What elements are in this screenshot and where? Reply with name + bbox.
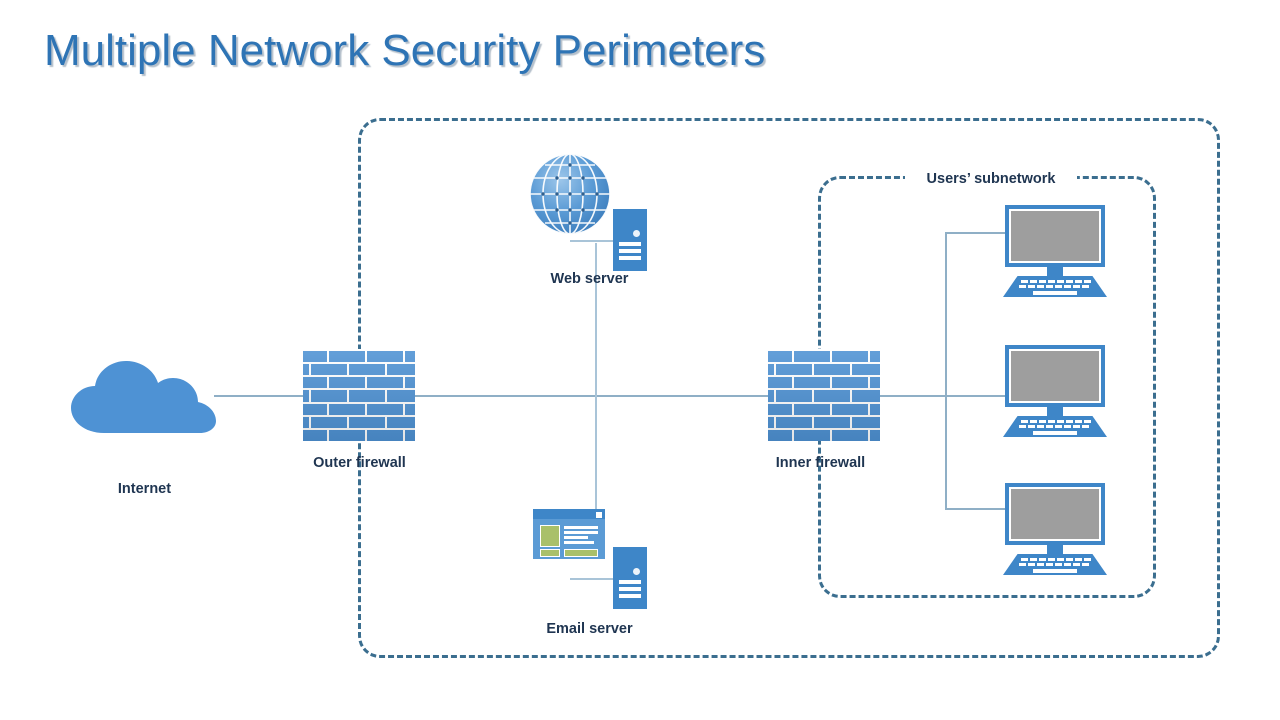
workstation-1 [1003, 205, 1107, 297]
spacebar [1033, 569, 1077, 573]
brick-row [303, 428, 415, 441]
cloud-icon [66, 355, 221, 440]
brick-row [768, 362, 880, 375]
workstation-3 [1003, 483, 1107, 575]
email-server-tower-icon [613, 547, 647, 609]
keyboard-icon [1003, 416, 1107, 437]
spacebar [1033, 431, 1077, 435]
server-slot [619, 242, 641, 246]
slide-canvas: Multiple Network Security Perimeters Use… [0, 0, 1280, 720]
brick-row [768, 428, 880, 441]
inner-firewall-label: Inner firewall [748, 455, 893, 471]
server-led-icon [633, 230, 640, 237]
inner-firewall-icon [768, 349, 880, 441]
brick-row [768, 375, 880, 388]
globe-icon [528, 152, 612, 236]
outer-firewall-icon [303, 349, 415, 441]
link-inner-firewall-users-bus [880, 395, 946, 397]
mail-window-titlebar [533, 509, 605, 519]
monitor-stand [1047, 407, 1063, 416]
brick-row [303, 388, 415, 401]
users-subnetwork-label: Users’ subnetwork [905, 168, 1077, 190]
link-bus-workstation-3 [945, 508, 1007, 510]
users-bus-line [945, 232, 947, 510]
server-slot [619, 580, 641, 584]
web-server-label: Web server [517, 271, 662, 287]
brick-row [303, 402, 415, 415]
monitor-icon [1005, 345, 1105, 407]
server-slot [619, 249, 641, 253]
server-led-icon [633, 568, 640, 575]
brick-row [303, 362, 415, 375]
monitor-icon [1005, 483, 1105, 545]
link-globe-web-server [570, 240, 614, 242]
page-title: Multiple Network Security Perimeters [44, 26, 765, 76]
mail-window-icon [533, 509, 605, 559]
monitor-stand [1047, 267, 1063, 276]
brick-row [303, 375, 415, 388]
workstation-2 [1003, 345, 1107, 437]
close-icon [596, 512, 602, 518]
server-slot [619, 256, 641, 260]
mail-button [564, 549, 598, 557]
brick-row [768, 415, 880, 428]
mail-text-line [564, 531, 598, 534]
monitor-icon [1005, 205, 1105, 267]
brick-row [768, 402, 880, 415]
mail-text-line [564, 526, 598, 529]
link-backbone [414, 395, 768, 397]
mail-button [540, 549, 560, 557]
screen [1009, 209, 1101, 263]
brick-row [768, 349, 880, 362]
mail-thumbnail [540, 525, 560, 547]
server-slot [619, 594, 641, 598]
link-mailwin-email-server [570, 578, 614, 580]
mail-text-line [564, 536, 588, 539]
server-slot [619, 587, 641, 591]
screen [1009, 349, 1101, 403]
outer-firewall-label: Outer firewall [287, 455, 432, 471]
brick-row [303, 415, 415, 428]
email-server-label: Email server [517, 621, 662, 637]
monitor-stand [1047, 545, 1063, 554]
keyboard-icon [1003, 276, 1107, 297]
link-bus-workstation-2 [945, 395, 1007, 397]
brick-row [303, 349, 415, 362]
screen [1009, 487, 1101, 541]
web-server-tower-icon [613, 209, 647, 271]
link-internet-outer-firewall [214, 395, 304, 397]
keyboard-icon [1003, 554, 1107, 575]
mail-text-line [564, 541, 594, 544]
brick-row [768, 388, 880, 401]
internet-label: Internet [72, 481, 217, 497]
link-bus-workstation-1 [945, 232, 1007, 234]
spacebar [1033, 291, 1077, 295]
